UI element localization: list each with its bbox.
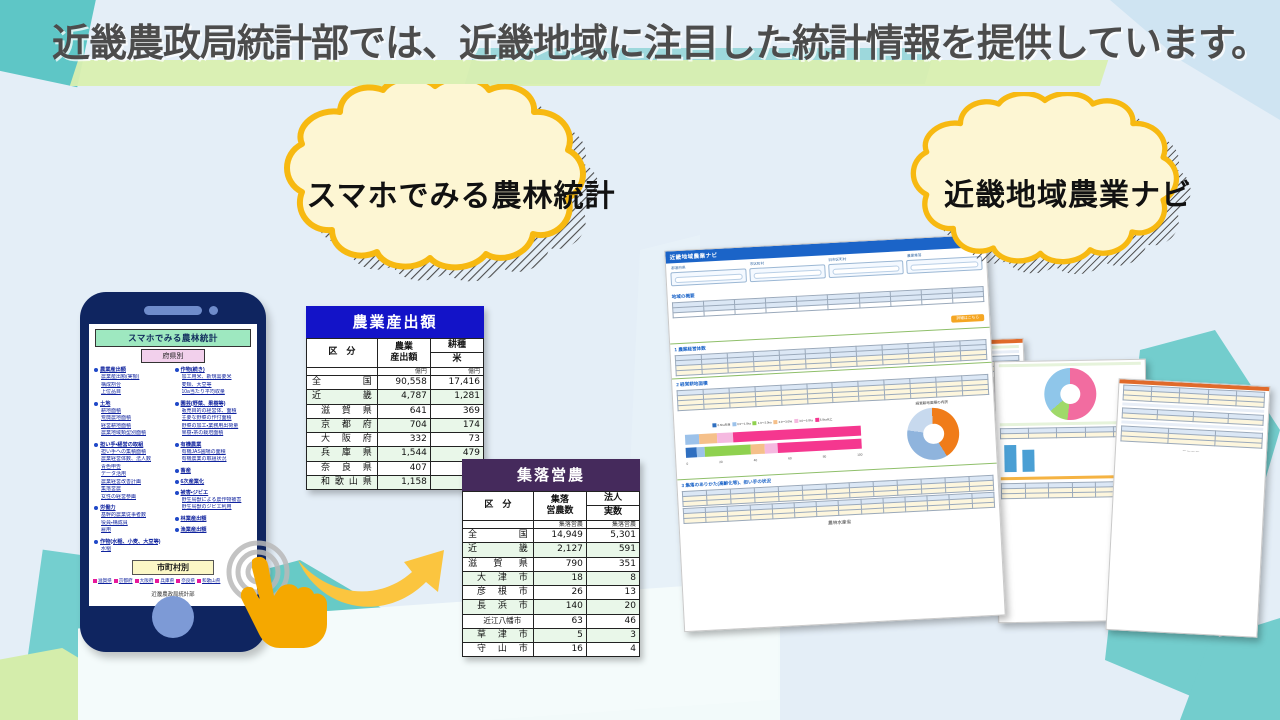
phone-menu-item[interactable]: 耕地面積 bbox=[101, 408, 172, 416]
table-cell-value: 90,558 bbox=[377, 376, 430, 390]
table-row: 滋 賀 県790351 bbox=[463, 557, 640, 571]
phone-menu-item[interactable]: 野菜の加工・業務用出荷量 bbox=[182, 423, 253, 431]
phone-menu-group: 有機農業有機JAS圃場の面積有機農業の取組状況 bbox=[175, 442, 253, 464]
table-cell-value: 332 bbox=[377, 433, 430, 447]
table-row: 大 津 市188 bbox=[463, 571, 640, 585]
phone-prefecture-tag[interactable]: 滋賀県 bbox=[93, 578, 112, 584]
table-cell-value: 16 bbox=[533, 643, 586, 657]
col-header-shurakusuu: 集落 営農数 bbox=[533, 492, 586, 521]
table-cell-value: 407 bbox=[377, 461, 430, 475]
phone-menu-head[interactable]: 土地 bbox=[94, 401, 172, 408]
phone-prefecture-tag[interactable]: 和歌山県 bbox=[197, 578, 220, 584]
bullet-icon bbox=[175, 528, 179, 532]
table-row: 長 浜 市14020 bbox=[463, 600, 640, 614]
phone-menu-item[interactable]: 経営耕地面積 bbox=[101, 423, 172, 431]
cloud-label-smartphone: スマホでみる農林統計 bbox=[236, 171, 686, 215]
bullet-icon bbox=[175, 517, 179, 521]
table-cell-value: 369 bbox=[430, 404, 483, 418]
table-cell-value: 46 bbox=[586, 614, 639, 628]
phone-menu-item[interactable]: 青色申告 bbox=[101, 464, 172, 472]
table-cell-value: 63 bbox=[533, 614, 586, 628]
phone-menu-sublist: 加工用米、新規需要米麦類、大豆等10a当たり平均収量 bbox=[175, 374, 253, 397]
table-row: 守 山 市164 bbox=[463, 643, 640, 657]
table-cell-label: 彦 根 市 bbox=[463, 586, 534, 600]
chart-legend-item: 3.0〜5.0ha bbox=[794, 418, 813, 423]
phone-menu-sublist: 担い手への集積面積農業経営体数、法人数青色申告データ活用農業経営改善計画集落営農… bbox=[94, 449, 172, 502]
tag-marker-icon bbox=[197, 579, 201, 583]
table-cell-value: 704 bbox=[377, 418, 430, 432]
phone-menu-item[interactable]: 雇用 bbox=[101, 527, 172, 535]
table-cell-value: 1,544 bbox=[377, 447, 430, 461]
phone-menu-head[interactable]: 林業産出額 bbox=[175, 516, 253, 523]
table-cell-value: 140 bbox=[533, 600, 586, 614]
table-cell-value: 18 bbox=[533, 571, 586, 585]
table-cell-value: 5 bbox=[533, 628, 586, 642]
navi-document-stack: ― ― ― ― 近畿地域農業ナビ 都道府県市区町村旧市区町村農業集落 地域の概要… bbox=[660, 232, 1280, 682]
chart-xtick: 100 bbox=[857, 453, 863, 457]
phone-menu-group: 6次産業化 bbox=[175, 479, 253, 486]
phone-menu-head[interactable]: 作物(続き) bbox=[175, 367, 253, 374]
tag-marker-icon bbox=[155, 579, 159, 583]
chart-bar-segment bbox=[685, 434, 700, 445]
bullet-icon bbox=[94, 368, 98, 372]
bullet-icon bbox=[175, 491, 179, 495]
phone-menu-group: 作物(続き)加工用米、新規需要米麦類、大豆等10a当たり平均収量 bbox=[175, 367, 253, 397]
phone-menu-item[interactable]: 野生鳥獣による農作物被害 bbox=[182, 497, 253, 505]
table-row: 全 国14,9495,301 bbox=[463, 529, 640, 543]
bullet-icon bbox=[94, 506, 98, 510]
phone-menu-item[interactable]: 農業産出額(実額) bbox=[101, 374, 172, 382]
navi-doc-field[interactable]: 市区町村 bbox=[749, 258, 826, 282]
table-cell-value: 73 bbox=[430, 433, 483, 447]
table-row: 彦 根 市2613 bbox=[463, 586, 640, 600]
navi-doc-page-2: ― ― ― ― bbox=[1106, 378, 1271, 638]
phone-screen-subtitle[interactable]: 府県別 bbox=[141, 349, 205, 363]
phone-menu-group: 林業産出額 bbox=[175, 516, 253, 523]
phone-menu-head[interactable]: 6次産業化 bbox=[175, 479, 253, 486]
phone-prefecture-tag[interactable]: 兵庫県 bbox=[155, 578, 174, 584]
tag-marker-icon bbox=[114, 579, 118, 583]
table-cell-value: 8 bbox=[586, 571, 639, 585]
table-cell-label: 近江八幡市 bbox=[463, 614, 534, 628]
callout-cloud-navi: 近畿地域農業ナビ bbox=[868, 92, 1268, 292]
table-cell-value: 3 bbox=[586, 628, 639, 642]
table-cell-value: 20 bbox=[586, 600, 639, 614]
table-cell-label: 守 山 市 bbox=[463, 643, 534, 657]
chart-bar-segment bbox=[777, 439, 862, 453]
table-row: 近 畿4,7871,281 bbox=[307, 390, 484, 404]
navi-doc-detail-button[interactable]: 詳細はこちら bbox=[951, 314, 984, 323]
bullet-icon bbox=[175, 368, 179, 372]
phone-home-button[interactable] bbox=[152, 596, 194, 638]
phone-speaker bbox=[144, 306, 202, 315]
table-cell-value: 641 bbox=[377, 404, 430, 418]
navi-doc-page-main: 近畿地域農業ナビ 都道府県市区町村旧市区町村農業集落 地域の概要 詳細はこちら … bbox=[664, 234, 1006, 632]
table-cell-value: 351 bbox=[586, 557, 639, 571]
phone-menu-head[interactable]: 労働力 bbox=[94, 505, 172, 512]
phone-menu-column-left: 農業産出額農業産出額(実額)構成割合上位品目土地耕地面積荒廃農地面積経営耕地面積… bbox=[94, 367, 172, 557]
table-cell-value: 1,281 bbox=[430, 390, 483, 404]
table-row: 近江八幡市6346 bbox=[463, 614, 640, 628]
phone-menu-item[interactable]: 麦類、大豆等 bbox=[182, 382, 253, 390]
phone-menu-item[interactable]: 有機農業の取組状況 bbox=[182, 456, 253, 464]
phone-menu-sublist: 野生鳥獣による農作物被害野生鳥獣のジビエ利用 bbox=[175, 497, 253, 512]
chart-legend-item: 5.0ha以上 bbox=[815, 417, 833, 422]
table-cell-value: 4,787 bbox=[377, 390, 430, 404]
phone-menu-sublist: 有機JAS圃場の面積有機農業の取組状況 bbox=[175, 449, 253, 464]
table-cell-label: 全 国 bbox=[463, 529, 534, 543]
phone-menu-item[interactable]: 上位品目 bbox=[101, 389, 172, 397]
table-nogyo-sanshutsu: 農業産出額 区 分 農業 産出額 耕種 米 億円億円全 国90,55817,41… bbox=[306, 306, 484, 490]
table-cell-label: 草 津 市 bbox=[463, 628, 534, 642]
chart-xtick: 40 bbox=[754, 458, 758, 462]
table-cell-label: 近 畿 bbox=[463, 543, 534, 557]
phone-menu-item[interactable]: データ活用 bbox=[101, 471, 172, 479]
table-cell-value: 13 bbox=[586, 586, 639, 600]
table-cell-label: 奈 良 県 bbox=[307, 461, 378, 475]
table-row: 草 津 市53 bbox=[463, 628, 640, 642]
tag-marker-icon bbox=[176, 579, 180, 583]
chart-bar-segment bbox=[765, 443, 778, 454]
table-cell-label: 近 畿 bbox=[307, 390, 378, 404]
phone-menu-sublist: 農業産出額(実額)構成割合上位品目 bbox=[94, 374, 172, 397]
phone-menu-item[interactable]: 農業経営改善計画 bbox=[101, 479, 172, 487]
table-cell-value: 790 bbox=[533, 557, 586, 571]
col-header-kousyu: 耕種 bbox=[430, 339, 483, 353]
bullet-icon bbox=[175, 402, 179, 406]
phone-menu-item[interactable]: 水稲 bbox=[101, 546, 172, 554]
col-header-jissuu: 実数 bbox=[586, 506, 639, 520]
phone-menu-item[interactable]: 女性の経営参画 bbox=[101, 494, 172, 502]
chart-legend-item: 2.0〜3.0ha bbox=[773, 419, 792, 424]
phone-menu-group: 労働力基幹的農業従事者数役員・構成員雇用 bbox=[94, 505, 172, 535]
phone-menu-item[interactable]: 担い手への集積面積 bbox=[101, 449, 172, 457]
cloud-label-navi: 近畿地域農業ナビ bbox=[868, 170, 1268, 214]
table-row: 和歌山県1,15875 bbox=[307, 475, 484, 489]
bullet-icon bbox=[94, 443, 98, 447]
table-unit-row: 集落営農集落営農 bbox=[463, 520, 640, 529]
chart-xtick: 60 bbox=[788, 456, 792, 460]
table-cell-label: 大 阪 府 bbox=[307, 433, 378, 447]
phone-menu-sublist: 基幹的農業従事者数役員・構成員雇用 bbox=[94, 512, 172, 535]
chart-legend-item: 0.5ha未満 bbox=[713, 422, 731, 427]
phone-menu-head[interactable]: 被害・ジビエ bbox=[175, 490, 253, 497]
phone-menu-item[interactable]: 野生鳥獣のジビエ利用 bbox=[182, 504, 253, 512]
phone-menu-head[interactable]: 畜産 bbox=[175, 468, 253, 475]
phone-menu-sublist: 水稲 bbox=[94, 546, 172, 554]
table-cell-value: 26 bbox=[533, 586, 586, 600]
table-cell-value: 4 bbox=[586, 643, 639, 657]
table-shuraku-title: 集落営農 bbox=[462, 459, 640, 491]
slide-canvas: 近畿農政局統計部では、近畿地域に注目した統計情報を提供しています。 スマホでみる… bbox=[0, 0, 1280, 720]
chart-xtick: 80 bbox=[823, 454, 827, 458]
phone-menu-item[interactable]: 集落営農 bbox=[101, 486, 172, 494]
phone-menu-head[interactable]: 漁業産出額 bbox=[175, 527, 253, 534]
phone-menu-group: 作物(水稲、小麦、大豆等)水稲 bbox=[94, 539, 172, 554]
col-header-kubun-2: 区 分 bbox=[463, 492, 534, 521]
phone-menu-group: 担い手・経営の取組担い手への集積面積農業経営体数、法人数青色申告データ活用農業経… bbox=[94, 442, 172, 502]
col-header-kubun: 区 分 bbox=[307, 339, 378, 368]
phone-menu-head[interactable]: 園芸(野菜、果樹等) bbox=[175, 401, 253, 408]
chart-legend-item: 0.5〜1.0ha bbox=[732, 421, 751, 426]
table-cell-value: 2,127 bbox=[533, 543, 586, 557]
phone-menu-group: 被害・ジビエ野生鳥獣による農作物被害野生鳥獣のジビエ利用 bbox=[175, 490, 253, 512]
phone-municipality-button[interactable]: 市町村別 bbox=[132, 560, 214, 575]
col-header-kome: 米 bbox=[430, 353, 483, 367]
chart-xtick: 20 bbox=[719, 460, 723, 464]
phone-menu-head[interactable]: 有機農業 bbox=[175, 442, 253, 449]
phone-menu-group: 漁業産出額 bbox=[175, 527, 253, 534]
chart-xtick: 0 bbox=[686, 462, 688, 466]
chart-bar-segment bbox=[751, 444, 766, 455]
phone-menu-group: 土地耕地面積荒廃農地面積経営耕地面積農業地域類型別面積 bbox=[94, 401, 172, 438]
col-header-sanshutsu: 農業 産出額 bbox=[377, 339, 430, 368]
phone-menu-head[interactable]: 農業産出額 bbox=[94, 367, 172, 374]
table-cell-label: 滋 賀 県 bbox=[307, 404, 378, 418]
table-cell-label: 全 国 bbox=[307, 376, 378, 390]
phone-menu-sublist: 販売目的の経営体、面積主要な野菜の作付面積野菜の加工・業務用出荷量果樹・茶の栽培… bbox=[175, 408, 253, 438]
phone-menu-head[interactable]: 作物(水稲、小麦、大豆等) bbox=[94, 539, 172, 546]
phone-menu-item[interactable]: 農業地域類型別面積 bbox=[101, 430, 172, 438]
phone-menu-item[interactable]: 農業経営体数、法人数 bbox=[101, 456, 172, 464]
phone-menu-item[interactable]: 販売目的の経営体、面積 bbox=[182, 408, 253, 416]
page-title: 近畿農政局統計部では、近畿地域に注目した統計情報を提供しています。 bbox=[52, 22, 1262, 68]
bullet-icon bbox=[94, 540, 98, 544]
table-cell-label: 滋 賀 県 bbox=[463, 557, 534, 571]
table-row: 滋 賀 県641369 bbox=[307, 404, 484, 418]
tap-hand-icon bbox=[218, 538, 338, 658]
table-row: 兵 庫 県1,544479 bbox=[307, 447, 484, 461]
table-cell-label: 兵 庫 県 bbox=[307, 447, 378, 461]
tag-marker-icon bbox=[93, 579, 97, 583]
table-row: 近 畿2,127591 bbox=[463, 543, 640, 557]
table-cell-value: 14,949 bbox=[533, 529, 586, 543]
table-shuraku-einou: 集落営農 区 分 集落 営農数 法人 実数 集落営農集落営農全 国14,9495… bbox=[462, 459, 640, 657]
table-cell-label: 京 都 府 bbox=[307, 418, 378, 432]
chart-bar-segment bbox=[699, 433, 717, 444]
navi-chart-donut bbox=[906, 407, 961, 462]
phone-menu-group: 園芸(野菜、果樹等)販売目的の経営体、面積主要な野菜の作付面積野菜の加工・業務用… bbox=[175, 401, 253, 438]
table-cell-value: 591 bbox=[586, 543, 639, 557]
table-row: 全 国90,55817,416 bbox=[307, 376, 484, 390]
table-cell-value: 17,416 bbox=[430, 376, 483, 390]
phone-menu-item[interactable]: 加工用米、新規需要米 bbox=[182, 374, 253, 382]
phone-menu-item[interactable]: 主要な野菜の作付面積 bbox=[182, 415, 253, 423]
phone-menu-item[interactable]: 10a当たり平均収量 bbox=[182, 389, 253, 397]
bullet-icon bbox=[94, 402, 98, 406]
phone-menu-head[interactable]: 担い手・経営の取組 bbox=[94, 442, 172, 449]
bullet-icon bbox=[175, 443, 179, 447]
phone-menu-group: 畜産 bbox=[175, 468, 253, 475]
chart-bar-segment bbox=[717, 432, 733, 443]
phone-menu-item[interactable]: 基幹的農業従事者数 bbox=[101, 512, 172, 520]
table-cell-value: 174 bbox=[430, 418, 483, 432]
phone-camera-icon bbox=[209, 306, 218, 315]
callout-cloud-smartphone: スマホでみる農林統計 bbox=[236, 84, 686, 294]
tag-marker-icon bbox=[135, 579, 139, 583]
table-row: 京 都 府704174 bbox=[307, 418, 484, 432]
table-cell-label: 大 津 市 bbox=[463, 571, 534, 585]
table-cell-value: 1,158 bbox=[377, 475, 430, 489]
chart-legend-item: 1.0〜2.0ha bbox=[753, 420, 772, 425]
phone-prefecture-tag[interactable]: 京都府 bbox=[114, 578, 133, 584]
phone-menu-column-right: 作物(続き)加工用米、新規需要米麦類、大豆等10a当たり平均収量園芸(野菜、果樹… bbox=[175, 367, 253, 557]
phone-screen-title: スマホでみる農林統計 bbox=[95, 329, 251, 347]
phone-menu-sublist: 耕地面積荒廃農地面積経営耕地面積農業地域類型別面積 bbox=[94, 408, 172, 438]
table-cell-label: 長 浜 市 bbox=[463, 600, 534, 614]
phone-menu-item[interactable]: 構成割合 bbox=[101, 382, 172, 390]
navi-doc-field-input[interactable] bbox=[749, 264, 825, 282]
phone-menu-item[interactable]: 荒廃農地面積 bbox=[101, 415, 172, 423]
table-row: 奈 良 県407111 bbox=[307, 461, 484, 475]
phone-menu-item[interactable]: 有機JAS圃場の面積 bbox=[182, 449, 253, 457]
chart-bar-segment bbox=[686, 447, 697, 458]
table-unit-row: 億円億円 bbox=[307, 367, 484, 376]
bullet-icon bbox=[175, 480, 179, 484]
phone-menu-item[interactable]: 役員・構成員 bbox=[101, 520, 172, 528]
table-cell-label: 和歌山県 bbox=[307, 475, 378, 489]
bullet-icon bbox=[175, 469, 179, 473]
table-row: 大 阪 府33273 bbox=[307, 433, 484, 447]
phone-menu-group: 農業産出額農業産出額(実額)構成割合上位品目 bbox=[94, 367, 172, 397]
phone-prefecture-tag[interactable]: 奈良県 bbox=[176, 578, 195, 584]
phone-prefecture-tag[interactable]: 大阪府 bbox=[135, 578, 154, 584]
phone-menu-item[interactable]: 果樹・茶の栽培面積 bbox=[182, 430, 253, 438]
chart-bar-segment bbox=[705, 444, 751, 456]
table-cell-value: 5,301 bbox=[586, 529, 639, 543]
col-header-houjin: 法人 bbox=[586, 492, 639, 506]
table-nogyo-title: 農業産出額 bbox=[306, 306, 484, 338]
